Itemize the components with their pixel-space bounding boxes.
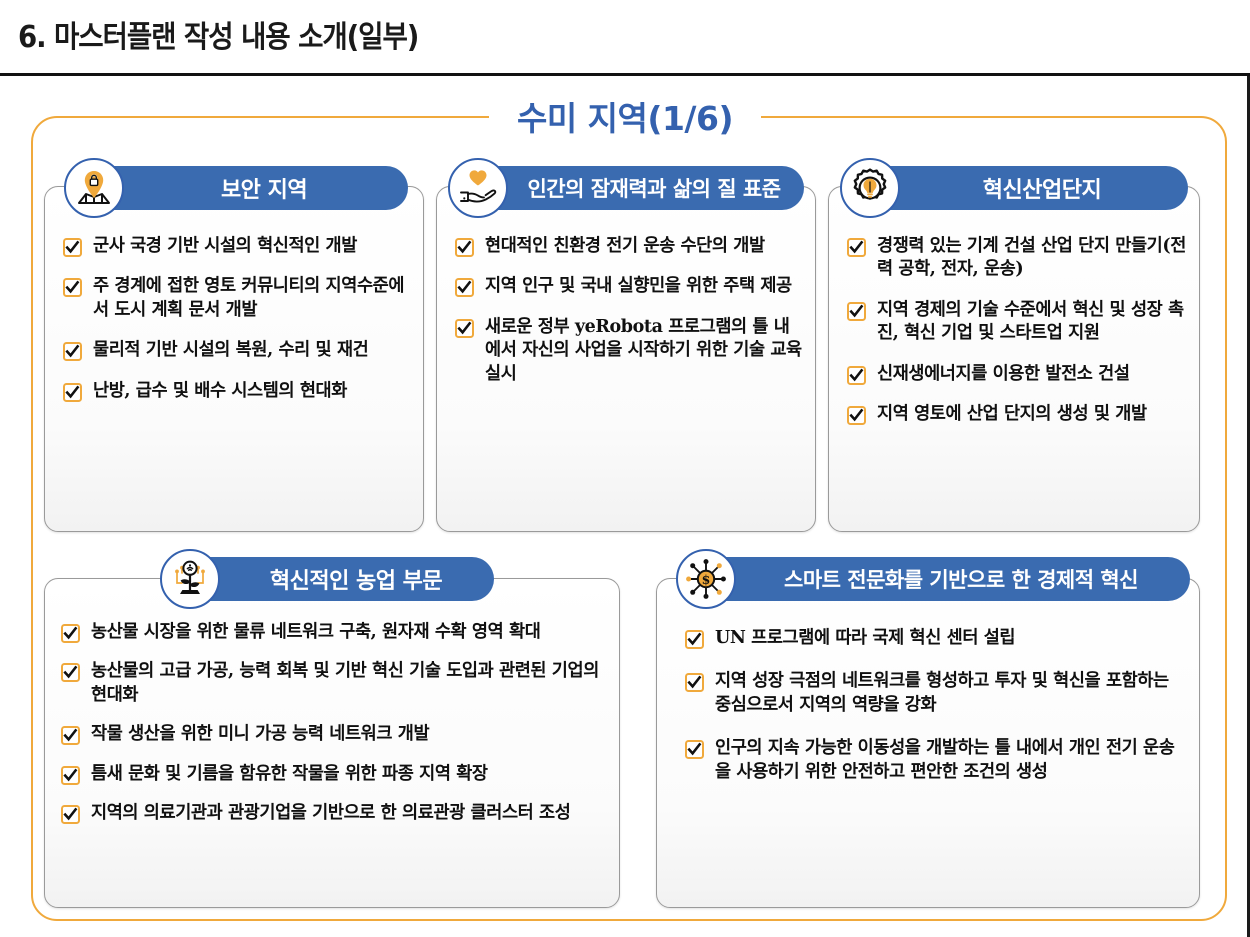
- bullet-list: 군사 국경 기반 시설의 혁신적인 개발 주 경계에 접한 영토 커뮤니티의 지…: [45, 187, 423, 430]
- list-item: 주 경계에 접한 영토 커뮤니티의 지역수준에서 도시 계획 문서 개발: [63, 275, 413, 322]
- list-item-label: 물리적 기반 시설의 복원, 수리 및 재건: [93, 339, 368, 362]
- checkbox-checked-icon: [455, 278, 474, 297]
- card-header-security-zone[interactable]: 보안 지역: [90, 166, 408, 210]
- list-item-label: 지역 인구 및 국내 실향민을 위한 주택 제공: [485, 275, 792, 298]
- list-item: 틈새 문화 및 기름을 함유한 작물을 위한 파종 지역 확장: [61, 763, 601, 786]
- checkbox-checked-icon: [61, 624, 80, 643]
- list-item: 난방, 급수 및 배수 시스템의 현대화: [63, 380, 413, 403]
- card-smart-specialization-economy[interactable]: UN 프로그램에 따라 국제 혁신 센터 설립 지역 성장 극점의 네트워크를 …: [656, 578, 1200, 908]
- card-title: 혁신산업단지: [866, 172, 1188, 204]
- card-title: 인간의 잠재력과 삶의 질 표준: [474, 173, 804, 203]
- list-item-label: 지역 영토에 산업 단지의 생성 및 개발: [877, 403, 1147, 426]
- checkbox-checked-icon: [685, 673, 704, 692]
- bullet-list: 농산물 시장을 위한 물류 네트워크 구축, 원자재 수확 영역 확대 농산물의…: [45, 579, 619, 852]
- list-item: 신재생에너지를 이용한 발전소 건설: [847, 363, 1189, 386]
- card-title: 혁신적인 농업 부문: [188, 563, 494, 595]
- card-header-innovation-industrial-complex[interactable]: 혁신산업단지: [866, 166, 1188, 210]
- checkbox-checked-icon: [685, 630, 704, 649]
- svg-text:$: $: [702, 572, 711, 587]
- list-item-label: 군사 국경 기반 시설의 혁신적인 개발: [93, 235, 357, 258]
- checkbox-checked-icon: [63, 342, 82, 361]
- list-item-label: 신재생에너지를 이용한 발전소 건설: [877, 363, 1130, 386]
- list-item-label: 작물 생산을 위한 미니 가공 능력 네트워크 개발: [91, 723, 429, 746]
- checkbox-checked-icon: [455, 319, 474, 338]
- list-item-label: 현대적인 친환경 전기 운송 수단의 개발: [485, 235, 765, 258]
- bullet-list: 경쟁력 있는 기계 건설 산업 단지 만들기(전력 공학, 전자, 운송) 지역…: [829, 187, 1199, 454]
- checkbox-checked-icon: [61, 766, 80, 785]
- list-item: 경쟁력 있는 기계 건설 산업 단지 만들기(전력 공학, 전자, 운송): [847, 235, 1189, 282]
- list-item-label: UN 프로그램에 따라 국제 혁신 센터 설립: [715, 627, 1015, 650]
- list-item-label: 지역 경제의 기술 수준에서 혁신 및 성장 촉진, 혁신 기업 및 스타트업 …: [877, 299, 1189, 346]
- list-item: UN 프로그램에 따라 국제 혁신 센터 설립: [685, 627, 1177, 650]
- checkbox-checked-icon: [61, 726, 80, 745]
- list-item: 군사 국경 기반 시설의 혁신적인 개발: [63, 235, 413, 258]
- checkbox-checked-icon: [847, 302, 866, 321]
- checkbox-checked-icon: [847, 366, 866, 385]
- list-item: 지역 성장 극점의 네트워크를 형성하고 투자 및 혁신을 포함하는 중심으로서…: [685, 670, 1177, 717]
- list-item-label: 주 경계에 접한 영토 커뮤니티의 지역수준에서 도시 계획 문서 개발: [93, 275, 413, 322]
- checkbox-checked-icon: [63, 278, 82, 297]
- list-item-label: 농산물 시장을 위한 물류 네트워크 구축, 원자재 수확 영역 확대: [91, 621, 540, 644]
- list-item-label: 지역 성장 극점의 네트워크를 형성하고 투자 및 혁신을 포함하는 중심으로서…: [715, 670, 1177, 717]
- card-innovation-industrial-complex[interactable]: 경쟁력 있는 기계 건설 산업 단지 만들기(전력 공학, 전자, 운송) 지역…: [828, 186, 1200, 532]
- slide-root: 6. 마스터플랜 작성 내용 소개(일부) 수미 지역(1/6) 군사 국경 기…: [0, 0, 1250, 937]
- hand-heart-icon: [448, 158, 508, 218]
- bullet-list: UN 프로그램에 따라 국제 혁신 센터 설립 지역 성장 극점의 네트워크를 …: [657, 579, 1199, 814]
- checkbox-checked-icon: [63, 238, 82, 257]
- card-title: 스마트 전문화를 기반으로 한 경제적 혁신: [702, 564, 1190, 594]
- card-header-smart-specialization-economy[interactable]: 스마트 전문화를 기반으로 한 경제적 혁신: [702, 557, 1190, 601]
- card-header-innovative-agriculture[interactable]: 혁신적인 농업 부문: [188, 557, 494, 601]
- list-item: 지역 인구 및 국내 실향민을 위한 주택 제공: [455, 275, 805, 298]
- card-innovative-agriculture[interactable]: 농산물 시장을 위한 물류 네트워크 구축, 원자재 수확 영역 확대 농산물의…: [44, 578, 620, 908]
- bullet-list: 현대적인 친환경 전기 운송 수단의 개발 지역 인구 및 국내 실향민을 위한…: [437, 187, 815, 413]
- list-item-label: 틈새 문화 및 기름을 함유한 작물을 위한 파종 지역 확장: [91, 763, 488, 786]
- checkbox-checked-icon: [63, 383, 82, 402]
- checkbox-checked-icon: [61, 663, 80, 682]
- checkbox-checked-icon: [847, 238, 866, 257]
- list-item: 현대적인 친환경 전기 운송 수단의 개발: [455, 235, 805, 258]
- card-human-potential[interactable]: 현대적인 친환경 전기 운송 수단의 개발 지역 인구 및 국내 실향민을 위한…: [436, 186, 816, 532]
- list-item: 농산물 시장을 위한 물류 네트워크 구축, 원자재 수확 영역 확대: [61, 621, 601, 644]
- checkbox-checked-icon: [847, 406, 866, 425]
- list-item: 농산물의 고급 가공, 능력 회복 및 기반 혁신 기술 도입과 관련된 기업의…: [61, 660, 601, 707]
- list-item: 지역 경제의 기술 수준에서 혁신 및 성장 촉진, 혁신 기업 및 스타트업 …: [847, 299, 1189, 346]
- smart-plant-icon: [160, 549, 220, 609]
- list-item-label: 새로운 정부 yeRobota 프로그램의 틀 내에서 자신의 사업을 시작하기…: [485, 316, 805, 386]
- card-title: 보안 지역: [90, 172, 408, 204]
- card-security-zone[interactable]: 군사 국경 기반 시설의 혁신적인 개발 주 경계에 접한 영토 커뮤니티의 지…: [44, 186, 424, 532]
- list-item: 인구의 지속 가능한 이동성을 개발하는 틀 내에서 개인 전기 운송을 사용하…: [685, 737, 1177, 784]
- list-item-label: 난방, 급수 및 배수 시스템의 현대화: [93, 380, 347, 403]
- list-item-label: 경쟁력 있는 기계 건설 산업 단지 만들기(전력 공학, 전자, 운송): [877, 235, 1189, 282]
- list-item: 지역의 의료기관과 관광기업을 기반으로 한 의료관광 클러스터 조성: [61, 802, 601, 825]
- gear-lightbulb-icon: [840, 158, 900, 218]
- card-header-human-potential[interactable]: 인간의 잠재력과 삶의 질 표준: [474, 166, 804, 210]
- checkbox-checked-icon: [455, 238, 474, 257]
- money-network-icon: $: [676, 549, 736, 609]
- checkbox-checked-icon: [61, 805, 80, 824]
- map-pin-lock-icon: [64, 158, 124, 218]
- list-item-label: 농산물의 고급 가공, 능력 회복 및 기반 혁신 기술 도입과 관련된 기업의…: [91, 660, 601, 707]
- list-item: 물리적 기반 시설의 복원, 수리 및 재건: [63, 339, 413, 362]
- checkbox-checked-icon: [685, 740, 704, 759]
- list-item: 작물 생산을 위한 미니 가공 능력 네트워크 개발: [61, 723, 601, 746]
- list-item-label: 인구의 지속 가능한 이동성을 개발하는 틀 내에서 개인 전기 운송을 사용하…: [715, 737, 1177, 784]
- card-grid: 군사 국경 기반 시설의 혁신적인 개발 주 경계에 접한 영토 커뮤니티의 지…: [0, 0, 1250, 937]
- list-item: 지역 영토에 산업 단지의 생성 및 개발: [847, 403, 1189, 426]
- list-item: 새로운 정부 yeRobota 프로그램의 틀 내에서 자신의 사업을 시작하기…: [455, 316, 805, 386]
- list-item-label: 지역의 의료기관과 관광기업을 기반으로 한 의료관광 클러스터 조성: [91, 802, 570, 825]
